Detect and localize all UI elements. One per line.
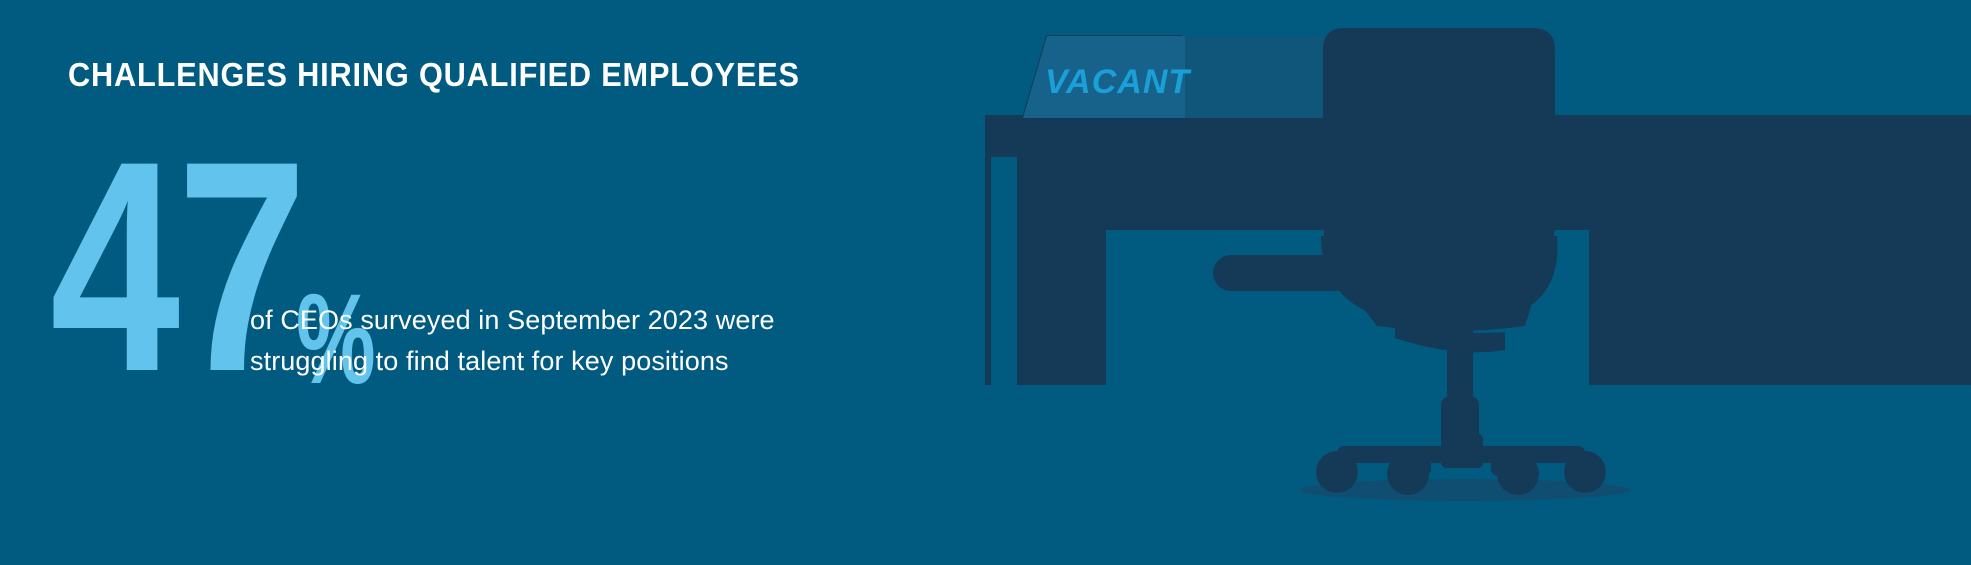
infographic-banner: CHALLENGES HIRING QUALIFIED EMPLOYEES 47…: [0, 0, 1971, 565]
description-line-1: of CEOs surveyed in September 2023 were: [250, 300, 870, 341]
caster-wheel: [1497, 453, 1539, 495]
caster-wheel: [1387, 453, 1429, 495]
empty-desk-illustration: VACANT: [985, 0, 1971, 565]
statistic-description: of CEOs surveyed in September 2023 were …: [250, 300, 870, 382]
caster-wheel: [1564, 451, 1606, 493]
vacant-sign-icon: VACANT: [1023, 36, 1371, 118]
page-title: CHALLENGES HIRING QUALIFIED EMPLOYEES: [68, 58, 800, 93]
caster-wheel: [1316, 451, 1358, 493]
vacant-sign-label: VACANT: [1045, 63, 1192, 101]
description-line-2: struggling to find talent for key positi…: [250, 341, 870, 382]
